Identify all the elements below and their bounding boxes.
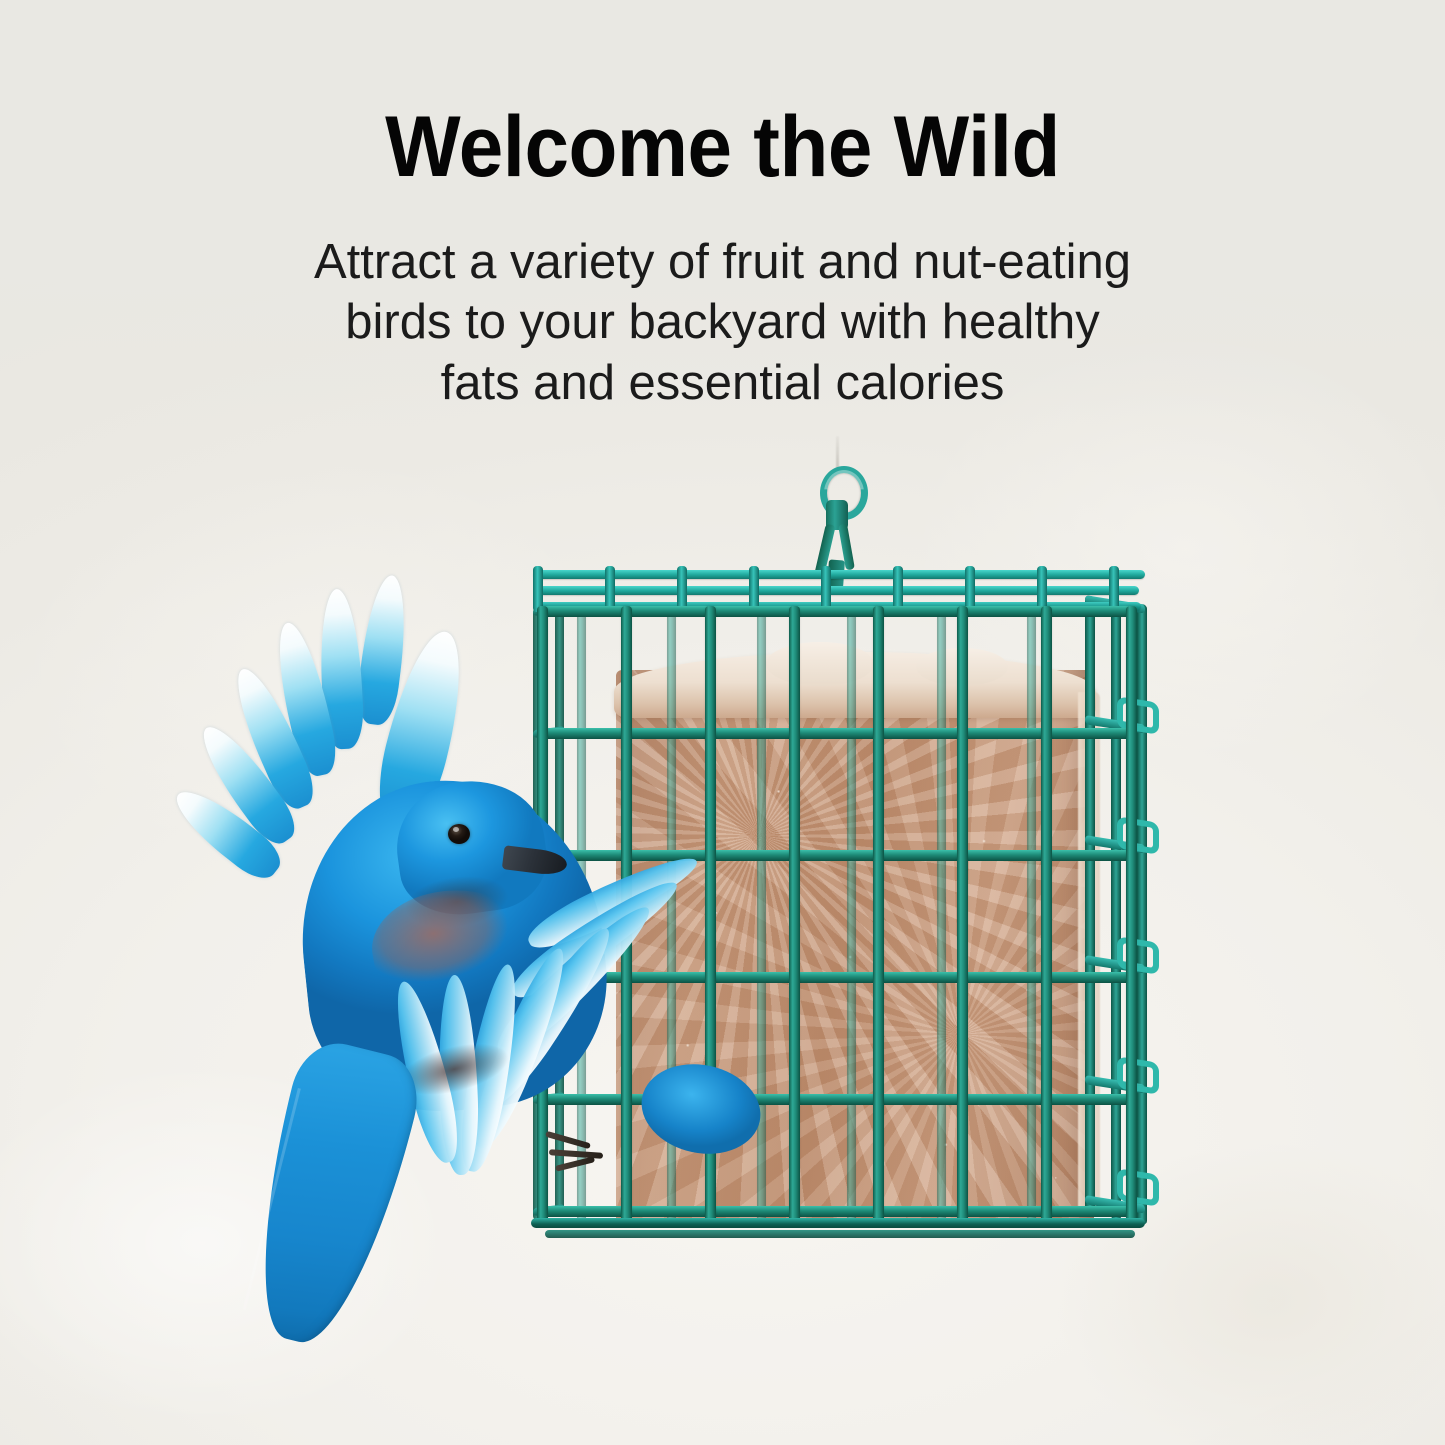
- bluebird-foot: [545, 1131, 607, 1171]
- subtitle-line-2: birds to your backyard with healthy: [193, 292, 1253, 352]
- subtitle-line-1: Attract a variety of fruit and nut-eatin…: [193, 232, 1253, 292]
- bluebird-lower-wing: [445, 815, 805, 1145]
- page-title: Welcome the Wild: [51, 104, 1395, 190]
- page-subtitle: Attract a variety of fruit and nut-eatin…: [193, 232, 1253, 413]
- product-image-canvas: Welcome the Wild Attract a variety of fr…: [0, 0, 1445, 1445]
- marketing-text-block: Welcome the Wild Attract a variety of fr…: [0, 0, 1445, 430]
- subtitle-line-3: fats and essential calories: [193, 353, 1253, 413]
- hang-line: [836, 436, 839, 470]
- bluebird: [245, 575, 805, 1355]
